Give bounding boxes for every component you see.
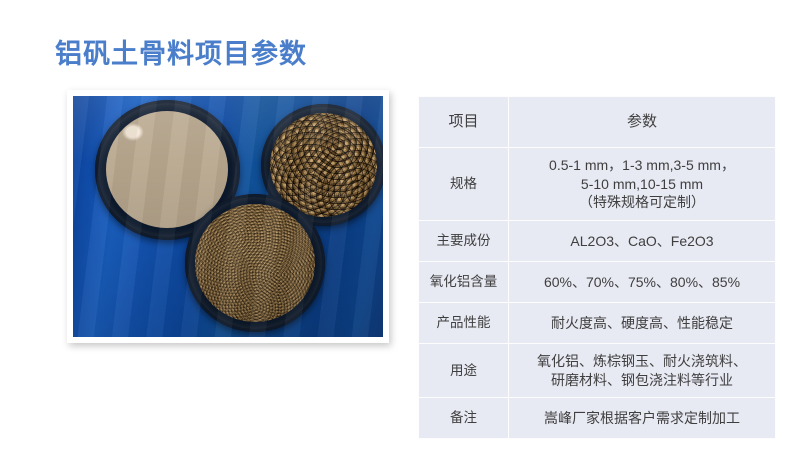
- product-photo: [73, 96, 383, 337]
- row-value-line: （特殊规格可定制）: [513, 193, 771, 211]
- table-header-item: 项目: [419, 97, 509, 148]
- table-header-value: 参数: [509, 97, 776, 148]
- specification-table: 项目 参数 规格 0.5-1 mm，1-3 mm,3-5 mm， 5-10 mm…: [418, 96, 776, 439]
- row-label-spec: 规格: [419, 148, 509, 221]
- row-label-composition: 主要成份: [419, 221, 509, 262]
- row-value-line: 0.5-1 mm，1-3 mm,3-5 mm，: [513, 156, 771, 174]
- row-label-remark: 备注: [419, 398, 509, 439]
- table-row: 规格 0.5-1 mm，1-3 mm,3-5 mm， 5-10 mm,10-15…: [419, 148, 776, 221]
- bowl-rim-icon: [185, 194, 325, 332]
- row-label-performance: 产品性能: [419, 303, 509, 344]
- row-value-remark: 嵩峰厂家根据客户需求定制加工: [509, 398, 776, 439]
- product-photo-frame: [67, 90, 389, 343]
- row-value-line: 氧化铝、炼棕钢玉、耐火浇筑料、: [513, 352, 771, 370]
- page-title: 铝矾土骨料项目参数: [55, 38, 307, 70]
- row-value-composition: AL2O3、CaO、Fe2O3: [509, 221, 776, 262]
- row-value-line: 5-10 mm,10-15 mm: [513, 175, 771, 193]
- row-value-usage: 氧化铝、炼棕钢玉、耐火浇筑料、 研磨材料、钢包浇注料等行业: [509, 344, 776, 398]
- row-value-spec: 0.5-1 mm，1-3 mm,3-5 mm， 5-10 mm,10-15 mm…: [509, 148, 776, 221]
- table-header-row: 项目 参数: [419, 97, 776, 148]
- row-value-alumina-content: 60%、70%、75%、80%、85%: [509, 262, 776, 303]
- table-row: 用途 氧化铝、炼棕钢玉、耐火浇筑料、 研磨材料、钢包浇注料等行业: [419, 344, 776, 398]
- table-row: 产品性能 耐火度高、硬度高、性能稳定: [419, 303, 776, 344]
- row-value-line: 研磨材料、钢包浇注料等行业: [513, 371, 771, 389]
- row-value-performance: 耐火度高、硬度高、性能稳定: [509, 303, 776, 344]
- sample-bowl-fine-sand: [185, 194, 325, 332]
- table-row: 主要成份 AL2O3、CaO、Fe2O3: [419, 221, 776, 262]
- row-label-usage: 用途: [419, 344, 509, 398]
- table-row: 氧化铝含量 60%、70%、75%、80%、85%: [419, 262, 776, 303]
- table-row: 备注 嵩峰厂家根据客户需求定制加工: [419, 398, 776, 439]
- row-label-alumina-content: 氧化铝含量: [419, 262, 509, 303]
